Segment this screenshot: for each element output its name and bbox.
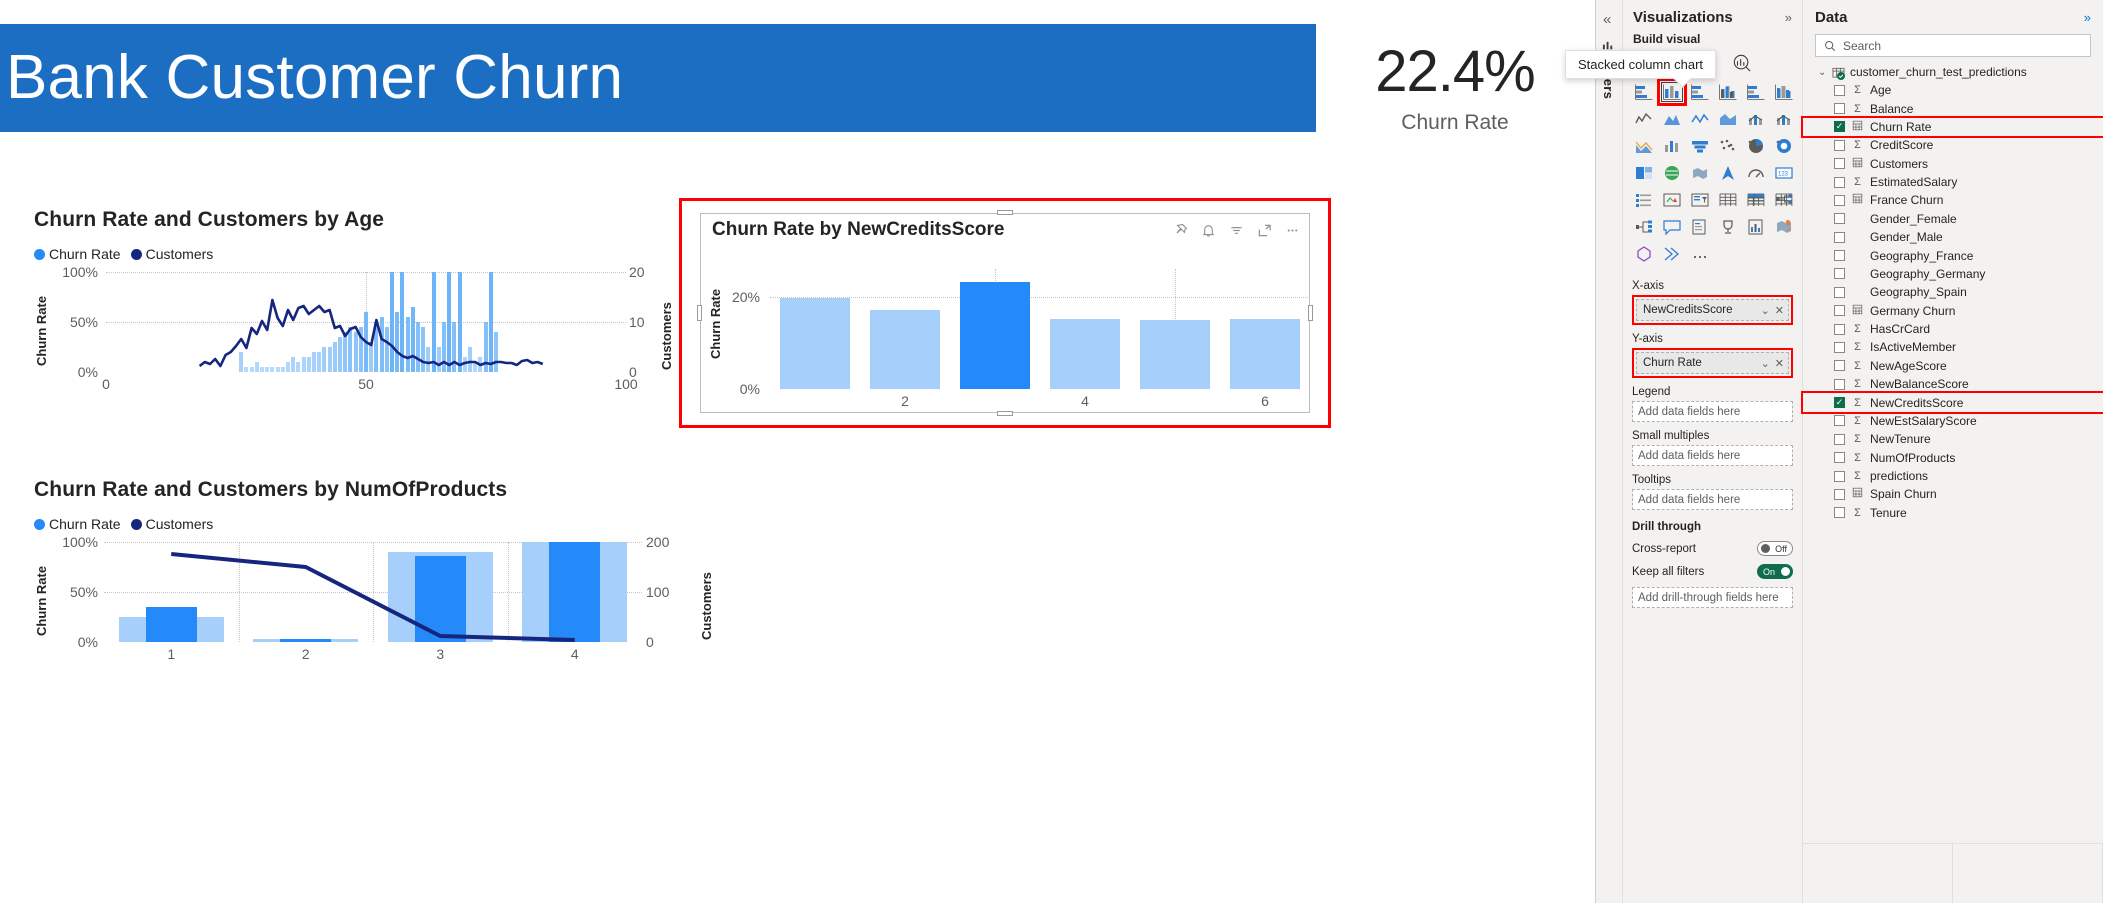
data-field-newestsalaryscore[interactable]: ΣNewEstSalaryScore: [1803, 412, 2103, 430]
bar[interactable]: [1140, 320, 1210, 389]
x-tick-label: 50: [358, 376, 374, 392]
y-tick-label: 20%: [732, 289, 760, 305]
field-label: HasCrCard: [1870, 322, 1930, 336]
x-tick-label: 1: [167, 646, 175, 662]
field-checkbox[interactable]: [1834, 342, 1845, 353]
visual-title: Churn Rate and Customers by NumOfProduct…: [34, 478, 714, 502]
sum-icon: Σ: [1852, 139, 1863, 151]
sum-icon: Σ: [1852, 360, 1863, 372]
field-checkbox[interactable]: [1834, 397, 1845, 408]
data-field-newcreditsscore[interactable]: ΣNewCreditsScore: [1803, 393, 2103, 411]
visual-churn-by-numofproducts[interactable]: Churn Rate and Customers by NumOfProduct…: [34, 478, 714, 672]
cross-report-toggle[interactable]: Off: [1757, 541, 1793, 556]
sum-icon: Σ: [1852, 470, 1863, 482]
clustered-bar-chart-icon[interactable]: [1687, 80, 1713, 104]
icon-box: [1633, 109, 1655, 129]
sum-icon: Σ: [1852, 378, 1863, 390]
more-options-icon[interactable]: [1285, 223, 1300, 238]
data-field-predictions[interactable]: Σpredictions: [1803, 467, 2103, 485]
data-field-gender-male[interactable]: Gender_Male: [1803, 228, 2103, 246]
chevron-down-icon[interactable]: ⌄: [1761, 357, 1770, 370]
table-selected-badge-icon: [1837, 72, 1845, 80]
visual-header: Churn Rate by NewCreditsScore: [712, 219, 1300, 241]
resize-handle-left[interactable]: [697, 305, 702, 321]
bar[interactable]: [1230, 319, 1300, 389]
search-placeholder: Search: [1843, 39, 1881, 53]
filters-rail[interactable]: « Filters: [1596, 0, 1623, 903]
stacked-bar-chart-icon[interactable]: [1631, 80, 1657, 104]
plot-area: Churn Rate Customers 0%50%100% 01020 050…: [34, 272, 674, 402]
icon-box: [1633, 190, 1655, 210]
icon-box: [1633, 82, 1655, 102]
keep-all-filters-toggle[interactable]: On: [1757, 564, 1793, 579]
field-checkbox[interactable]: [1834, 103, 1845, 114]
scatter-chart-icon[interactable]: [1715, 134, 1741, 158]
y2-tick-label: 100: [646, 584, 669, 600]
treemap-icon[interactable]: [1631, 161, 1657, 185]
resize-handle-top[interactable]: [997, 210, 1013, 215]
field-checkbox[interactable]: [1834, 213, 1845, 224]
field-label: IsActiveMember: [1870, 340, 1956, 354]
visual-title: Churn Rate and Customers by Age: [34, 208, 674, 232]
field-chip-newcreditsscore[interactable]: NewCreditsScore ⌄ ✕: [1636, 299, 1789, 321]
field-checkbox[interactable]: [1834, 195, 1845, 206]
icon-box: [1717, 163, 1739, 183]
measure-icon: [1852, 157, 1863, 171]
remove-field-icon[interactable]: ✕: [1775, 357, 1784, 370]
field-label: Germany Churn: [1870, 304, 1955, 318]
data-field-newtenure[interactable]: ΣNewTenure: [1803, 430, 2103, 448]
x-tick-label: 100: [614, 376, 637, 392]
field-checkbox[interactable]: [1834, 268, 1845, 279]
search-input[interactable]: Search: [1815, 34, 2091, 57]
icon-box: [1745, 217, 1767, 237]
data-field-france-churn[interactable]: France Churn: [1803, 191, 2103, 209]
plot-area: Churn Rate Customers 0%50%100% 0100200 1…: [34, 542, 714, 672]
collapse-pane-icon[interactable]: «: [1603, 12, 1611, 27]
data-field-geography-germany[interactable]: Geography_Germany: [1803, 265, 2103, 283]
y-tick-label: 50%: [70, 584, 98, 600]
clustered-column-chart-icon[interactable]: [1715, 80, 1741, 104]
field-label: Spain Churn: [1870, 487, 1937, 501]
icon-box: [1689, 163, 1711, 183]
legend-label: Customers: [146, 246, 214, 262]
visual-title: Churn Rate by NewCreditsScore: [712, 219, 1004, 241]
field-label: CreditScore: [1870, 138, 1933, 152]
field-checkbox[interactable]: [1834, 452, 1845, 463]
icon-box: 123: [1773, 163, 1795, 183]
y-tick-label: 0%: [78, 364, 98, 380]
cross-report-label: Cross-report: [1632, 543, 1696, 555]
gridline: [770, 297, 1310, 298]
alert-bell-icon[interactable]: [1201, 223, 1216, 238]
bar[interactable]: [1050, 319, 1120, 389]
sum-icon: Σ: [1852, 103, 1863, 115]
data-field-age[interactable]: ΣAge: [1803, 81, 2103, 99]
pane-title: Data: [1815, 9, 1848, 26]
influencer-icon[interactable]: [1631, 215, 1657, 239]
visual-actions: [1173, 223, 1300, 238]
data-field-estimatedsalary[interactable]: ΣEstimatedSalary: [1803, 173, 2103, 191]
search-icon: [1824, 40, 1836, 52]
funnel-icon[interactable]: [1687, 134, 1713, 158]
line-stacked-column-chart-icon[interactable]: [1715, 107, 1741, 131]
y2-tick-label: 20: [629, 264, 645, 280]
100-stacked-bar-chart-icon[interactable]: [1743, 80, 1769, 104]
y-tick-label: 0%: [78, 634, 98, 650]
plot-area: Churn Rate 0%20% 246: [742, 269, 1298, 379]
legend-swatch-icon: [131, 519, 142, 530]
kpi-icon[interactable]: [1659, 188, 1685, 212]
data-field-numofproducts[interactable]: ΣNumOfProducts: [1803, 449, 2103, 467]
sum-icon: Σ: [1852, 452, 1863, 464]
icon-box: [1773, 136, 1795, 156]
field-label: Geography_Spain: [1870, 285, 1967, 299]
legend-well[interactable]: Add data fields here: [1632, 401, 1793, 422]
page-title: Bank Customer Churn: [0, 47, 623, 109]
field-label: France Churn: [1870, 193, 1943, 207]
field-checkbox[interactable]: [1834, 379, 1845, 390]
keep-all-filters-row: Keep all filters On: [1632, 564, 1793, 579]
measure-icon: [1852, 120, 1863, 134]
well-label-x-axis: X-axis: [1632, 280, 1793, 292]
chevron-down-icon[interactable]: ⌄: [1761, 304, 1770, 317]
well-label-small-multiples: Small multiples: [1632, 430, 1793, 442]
analytics-icon[interactable]: [1731, 54, 1753, 75]
icon-box: [1689, 217, 1711, 237]
legend-swatch-icon: [131, 249, 142, 260]
line-clustered-column-chart-icon[interactable]: [1743, 107, 1769, 131]
y2-tick-label: 0: [646, 634, 654, 650]
paginated-report-icon[interactable]: [1687, 215, 1713, 239]
r-visual-icon[interactable]: [1743, 215, 1769, 239]
y-axis-title: Churn Rate: [34, 280, 49, 366]
gauge-icon[interactable]: [1743, 161, 1769, 185]
visualizations-pane[interactable]: Visualizations » Build visual: [1623, 0, 1803, 903]
field-label: Balance: [1870, 102, 1913, 116]
icon-box: [1633, 136, 1655, 156]
icon-box: [1661, 136, 1683, 156]
y2-tick-label: 10: [629, 314, 645, 330]
data-field-tenure[interactable]: ΣTenure: [1803, 504, 2103, 522]
field-checkbox[interactable]: [1834, 158, 1845, 169]
matrix-icon[interactable]: [1743, 188, 1769, 212]
sum-icon: Σ: [1852, 176, 1863, 188]
pin-icon[interactable]: [1173, 223, 1188, 238]
svg-text:123: 123: [1778, 172, 1789, 178]
page-tabs-strip: [1803, 843, 2103, 903]
field-label: Tenure: [1870, 506, 1907, 520]
x-tick-label: 2: [302, 646, 310, 662]
line-series-customers[interactable]: [106, 272, 626, 372]
x-axis-well-highlight: NewCreditsScore ⌄ ✕: [1632, 295, 1793, 325]
sum-icon: Σ: [1852, 323, 1863, 335]
field-label: NewTenure: [1870, 432, 1931, 446]
legend-label: Customers: [146, 516, 214, 532]
field-checkbox[interactable]: [1834, 85, 1845, 96]
icon-box: [1717, 82, 1739, 102]
remove-field-icon[interactable]: ✕: [1775, 304, 1784, 317]
x-tick-label: 4: [1081, 393, 1089, 409]
field-checkbox[interactable]: [1834, 507, 1845, 518]
icon-box: [1633, 217, 1655, 237]
kpi-value: 22.4%: [1330, 42, 1580, 103]
icon-box: [1689, 136, 1711, 156]
field-checkbox[interactable]: [1834, 287, 1845, 298]
field-label: NewAgeScore: [1870, 359, 1947, 373]
data-field-list[interactable]: ΣAgeΣBalanceChurn RateΣCreditScoreCustom…: [1803, 81, 2103, 522]
power-apps-icon[interactable]: [1659, 242, 1685, 266]
legend: Churn Rate Customers: [34, 246, 674, 262]
y-axis-title: Churn Rate: [34, 550, 49, 636]
field-label: Customers: [1870, 157, 1928, 171]
key-influencers-icon[interactable]: [1715, 215, 1741, 239]
power-bi-window: Bank Customer Churn 22.4% Churn Rate Chu…: [0, 0, 2103, 903]
y-axis-well-highlight: Churn Rate ⌄ ✕: [1632, 348, 1793, 378]
field-label: Geography_Germany: [1870, 267, 1985, 281]
legend-label: Churn Rate: [49, 246, 121, 262]
data-field-geography-france[interactable]: Geography_France: [1803, 246, 2103, 264]
line-chart-icon[interactable]: [1631, 107, 1657, 131]
data-field-spain-churn[interactable]: Spain Churn: [1803, 485, 2103, 503]
x-tick-label: 2: [901, 393, 909, 409]
legend-label: Churn Rate: [49, 516, 121, 532]
icon-box: [1633, 244, 1655, 264]
donut-chart-icon[interactable]: [1771, 134, 1797, 158]
visual-type-grid[interactable]: 123: [1623, 76, 1802, 268]
data-field-churn-rate[interactable]: Churn Rate: [1803, 118, 2103, 136]
legend-swatch-icon: [34, 249, 45, 260]
100-stacked-column-chart-icon[interactable]: [1771, 80, 1797, 104]
legend-item-churn-rate[interactable]: Churn Rate: [34, 246, 121, 262]
x-tick-label: 4: [571, 646, 579, 662]
build-visual-label: Build visual: [1623, 30, 1802, 50]
ribbon-chart-icon[interactable]: [1771, 107, 1797, 131]
data-field-newagescore[interactable]: ΣNewAgeScore: [1803, 357, 2103, 375]
y-axis-title: Churn Rate: [708, 273, 723, 359]
visual-churn-by-newcreditsscore[interactable]: Churn Rate by NewCreditsScore: [700, 213, 1310, 413]
field-label: NewEstSalaryScore: [1870, 414, 1977, 428]
data-field-creditscore[interactable]: ΣCreditScore: [1803, 136, 2103, 154]
icon-box: [1773, 82, 1795, 102]
field-checkbox[interactable]: [1834, 305, 1845, 316]
sum-icon: Σ: [1852, 433, 1863, 445]
icon-box: [1717, 217, 1739, 237]
y-tick-label: 0%: [740, 381, 760, 397]
y2-tick-label: 200: [646, 534, 669, 550]
multi-row-card-icon[interactable]: [1631, 188, 1657, 212]
data-pane[interactable]: Data » Search ⌄ customer_churn_test_pred…: [1803, 0, 2103, 903]
report-title-banner[interactable]: Bank Customer Churn: [0, 24, 1316, 132]
sum-icon: Σ: [1852, 341, 1863, 353]
arcgis-map-icon[interactable]: [1771, 215, 1797, 239]
field-checkbox[interactable]: [1834, 177, 1845, 188]
field-checkbox[interactable]: [1834, 140, 1845, 151]
data-field-gender-female[interactable]: Gender_Female: [1803, 210, 2103, 228]
page-tab-segment[interactable]: [1953, 844, 2103, 903]
icon-box: [1745, 109, 1767, 129]
icon-box: [1745, 163, 1767, 183]
filter-icon[interactable]: [1229, 223, 1244, 238]
icon-box: [1661, 190, 1683, 210]
map-icon[interactable]: [1659, 161, 1685, 185]
focus-mode-icon[interactable]: [1257, 223, 1272, 238]
icon-box: [1689, 109, 1711, 129]
data-field-hascrcard[interactable]: ΣHasCrCard: [1803, 320, 2103, 338]
field-chip-churn-rate[interactable]: Churn Rate ⌄ ✕: [1636, 352, 1789, 374]
field-checkbox[interactable]: [1834, 324, 1845, 335]
data-field-newbalancescore[interactable]: ΣNewBalanceScore: [1803, 375, 2103, 393]
icon-box: [1717, 136, 1739, 156]
field-checkbox[interactable]: [1834, 471, 1845, 482]
field-label: EstimatedSalary: [1870, 175, 1957, 189]
stacked-area-chart-icon[interactable]: [1687, 107, 1713, 131]
icon-box: [1661, 217, 1683, 237]
field-label: NewCreditsScore: [1870, 396, 1963, 410]
data-field-customers[interactable]: Customers: [1803, 155, 2103, 173]
sum-icon: Σ: [1852, 507, 1863, 519]
field-label: Churn Rate: [1870, 120, 1931, 134]
chip-label: Churn Rate: [1643, 357, 1756, 369]
resize-handle-bottom[interactable]: [997, 411, 1013, 416]
measure-icon: [1852, 304, 1863, 318]
visualizations-header: Visualizations »: [1623, 0, 1802, 30]
icon-box: [1773, 217, 1795, 237]
well-label-legend: Legend: [1632, 386, 1793, 398]
measure-icon: [1852, 193, 1863, 207]
table-icon: [1832, 66, 1845, 79]
icon-box: [1717, 190, 1739, 210]
decomposition-tree-icon[interactable]: [1771, 188, 1797, 212]
data-field-balance[interactable]: ΣBalance: [1803, 99, 2103, 117]
well-label-tooltips: Tooltips: [1632, 474, 1793, 486]
waterfall-chart-icon[interactable]: [1631, 134, 1657, 158]
icon-box: [1773, 109, 1795, 129]
field-checkbox[interactable]: [1834, 434, 1845, 445]
table-name: customer_churn_test_predictions: [1850, 65, 2027, 79]
field-checkbox[interactable]: [1834, 250, 1845, 261]
field-checkbox[interactable]: [1834, 415, 1845, 426]
drill-through-label: Drill through: [1632, 521, 1793, 533]
icon-box: [1661, 109, 1683, 129]
small-multiples-well[interactable]: Add data fields here: [1632, 445, 1793, 466]
sum-icon: Σ: [1852, 415, 1863, 427]
icon-box: [1689, 244, 1711, 264]
icon-box: [1745, 136, 1767, 156]
smart-narrative-icon[interactable]: [1659, 215, 1685, 239]
field-checkbox[interactable]: [1834, 232, 1845, 243]
data-pane-header: Data »: [1803, 0, 2103, 32]
table-icon[interactable]: [1715, 188, 1741, 212]
legend-swatch-icon: [34, 519, 45, 530]
kpi-label: Churn Rate: [1330, 111, 1580, 135]
y-tick-label: 100%: [62, 264, 98, 280]
visual-type-tooltip: Stacked column chart: [1565, 50, 1716, 79]
pane-title: Visualizations: [1633, 9, 1733, 26]
field-label: NewBalanceScore: [1870, 377, 1969, 391]
field-label: Gender_Female: [1870, 212, 1957, 226]
report-canvas[interactable]: Bank Customer Churn 22.4% Churn Rate Chu…: [0, 0, 1596, 903]
filled-map-icon[interactable]: [1687, 161, 1713, 185]
selected-visual-highlight: Churn Rate by NewCreditsScore: [679, 198, 1331, 428]
field-label: Age: [1870, 83, 1891, 97]
field-wells: X-axis NewCreditsScore ⌄ ✕ Y-axis Churn …: [1623, 268, 1802, 608]
chevron-down-icon[interactable]: ⌄: [1818, 67, 1827, 78]
legend-item-customers[interactable]: Customers: [131, 246, 214, 262]
x-tick-label: 6: [1261, 393, 1269, 409]
icon-box: [1745, 82, 1767, 102]
field-label: Geography_France: [1870, 249, 1973, 263]
line-series-customers[interactable]: [104, 542, 642, 642]
keep-all-filters-label: Keep all filters: [1632, 566, 1704, 578]
legend-item-customers[interactable]: Customers: [131, 516, 214, 532]
bar-selected[interactable]: [960, 282, 1030, 389]
icon-box: [1689, 82, 1711, 102]
card-icon[interactable]: 123: [1771, 161, 1797, 185]
bar[interactable]: [870, 310, 940, 389]
icon-box: [1717, 109, 1739, 129]
expand-pane-icon[interactable]: »: [1785, 10, 1792, 25]
churn-rate-card[interactable]: 22.4% Churn Rate: [1330, 42, 1580, 135]
y2-axis-title: Customers: [699, 548, 714, 640]
bar[interactable]: [780, 298, 850, 389]
azure-map-icon[interactable]: [1715, 161, 1741, 185]
slicer-icon[interactable]: [1687, 188, 1713, 212]
x-tick-label: 0: [102, 376, 110, 392]
tooltips-well[interactable]: Add data fields here: [1632, 489, 1793, 510]
sum-icon: Σ: [1852, 397, 1863, 409]
icon-box: [1745, 190, 1767, 210]
field-label: predictions: [1870, 469, 1928, 483]
area-chart-icon[interactable]: [1659, 107, 1685, 131]
icon-box: [1661, 244, 1683, 264]
field-label: NumOfProducts: [1870, 451, 1955, 465]
chip-label: NewCreditsScore: [1643, 304, 1756, 316]
x-tick-label: 3: [436, 646, 444, 662]
y-tick-label: 100%: [62, 534, 98, 550]
legend-item-churn-rate[interactable]: Churn Rate: [34, 516, 121, 532]
field-checkbox[interactable]: [1834, 489, 1845, 500]
y2-axis-title: Customers: [659, 278, 674, 370]
funnel-chart-icon[interactable]: [1659, 134, 1685, 158]
cross-report-row: Cross-report Off: [1632, 541, 1793, 556]
measure-icon: [1852, 487, 1863, 501]
page-tab-segment[interactable]: [1803, 844, 1953, 903]
field-checkbox[interactable]: [1834, 121, 1845, 132]
expand-pane-icon[interactable]: »: [2084, 10, 2091, 25]
more-visuals-icon[interactable]: [1687, 242, 1713, 266]
legend: Churn Rate Customers: [34, 516, 714, 532]
field-label: Gender_Male: [1870, 230, 1943, 244]
data-field-germany-churn[interactable]: Germany Churn: [1803, 302, 2103, 320]
icon-box: [1661, 163, 1683, 183]
field-checkbox[interactable]: [1834, 360, 1845, 371]
table-node-customer-churn-test-predictions[interactable]: ⌄ customer_churn_test_predictions: [1803, 63, 2103, 81]
pie-chart-icon[interactable]: [1743, 134, 1769, 158]
data-field-geography-spain[interactable]: Geography_Spain: [1803, 283, 2103, 301]
icon-box: [1689, 190, 1711, 210]
icon-box: [1633, 163, 1655, 183]
y-tick-label: 50%: [70, 314, 98, 330]
drill-through-well[interactable]: Add drill-through fields here: [1632, 587, 1793, 608]
well-label-y-axis: Y-axis: [1632, 333, 1793, 345]
python-visual-icon[interactable]: [1631, 242, 1657, 266]
data-field-isactivemember[interactable]: ΣIsActiveMember: [1803, 338, 2103, 356]
sum-icon: Σ: [1852, 84, 1863, 96]
icon-box: [1773, 190, 1795, 210]
visual-churn-by-age[interactable]: Churn Rate and Customers by Age Churn Ra…: [34, 208, 674, 402]
